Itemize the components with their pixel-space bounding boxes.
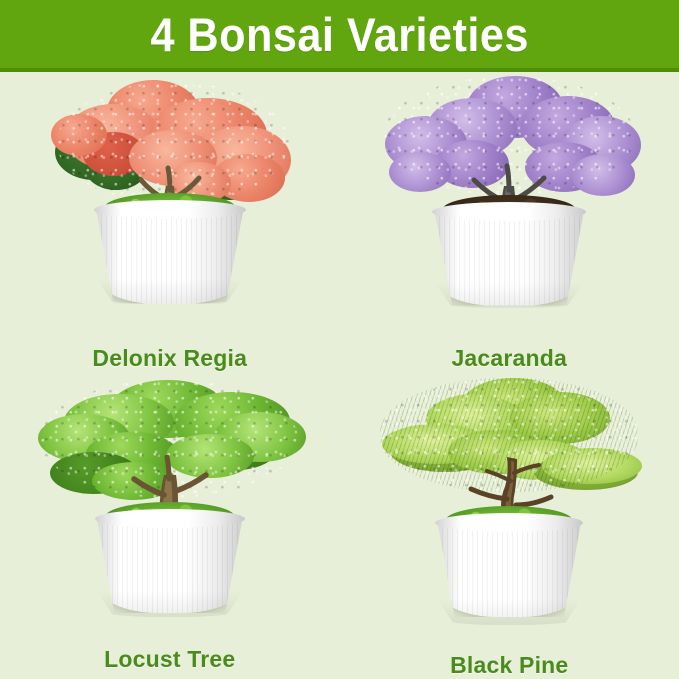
pot-rim xyxy=(94,200,246,219)
variety-card-locust-tree: Locust Tree xyxy=(0,376,340,679)
pot-rim xyxy=(95,509,245,528)
pot-jacaranda xyxy=(434,202,584,308)
pot-delonix-regia xyxy=(96,200,244,304)
pot-shadow xyxy=(437,599,581,625)
variety-label-jacaranda: Jacaranda xyxy=(340,345,679,372)
variety-label-locust-tree: Locust Tree xyxy=(0,646,340,673)
variety-card-black-pine: Black Pine xyxy=(340,376,679,679)
variety-grid: Delonix Regia xyxy=(0,72,679,679)
pot-shadow xyxy=(434,282,584,308)
pot-rim xyxy=(435,513,583,532)
pot-locust-tree xyxy=(97,509,243,617)
variety-card-delonix-regia: Delonix Regia xyxy=(0,72,340,376)
plant-image-locust-tree xyxy=(0,376,340,646)
pot-shadow xyxy=(97,591,243,617)
pot-shadow xyxy=(96,278,244,304)
bonsai-varieties-poster: 4 Bonsai Varieties xyxy=(0,0,679,679)
header-banner: 4 Bonsai Varieties xyxy=(0,0,679,72)
variety-label-black-pine: Black Pine xyxy=(340,652,679,679)
plant-image-black-pine xyxy=(340,376,679,646)
pot-black-pine xyxy=(437,513,581,625)
variety-card-jacaranda: Jacaranda xyxy=(340,72,679,376)
page-title: 4 Bonsai Varieties xyxy=(150,11,528,58)
pot-rim xyxy=(432,202,586,221)
variety-label-delonix-regia: Delonix Regia xyxy=(0,345,340,372)
plant-image-delonix-regia xyxy=(0,72,340,342)
plant-image-jacaranda xyxy=(340,72,679,342)
